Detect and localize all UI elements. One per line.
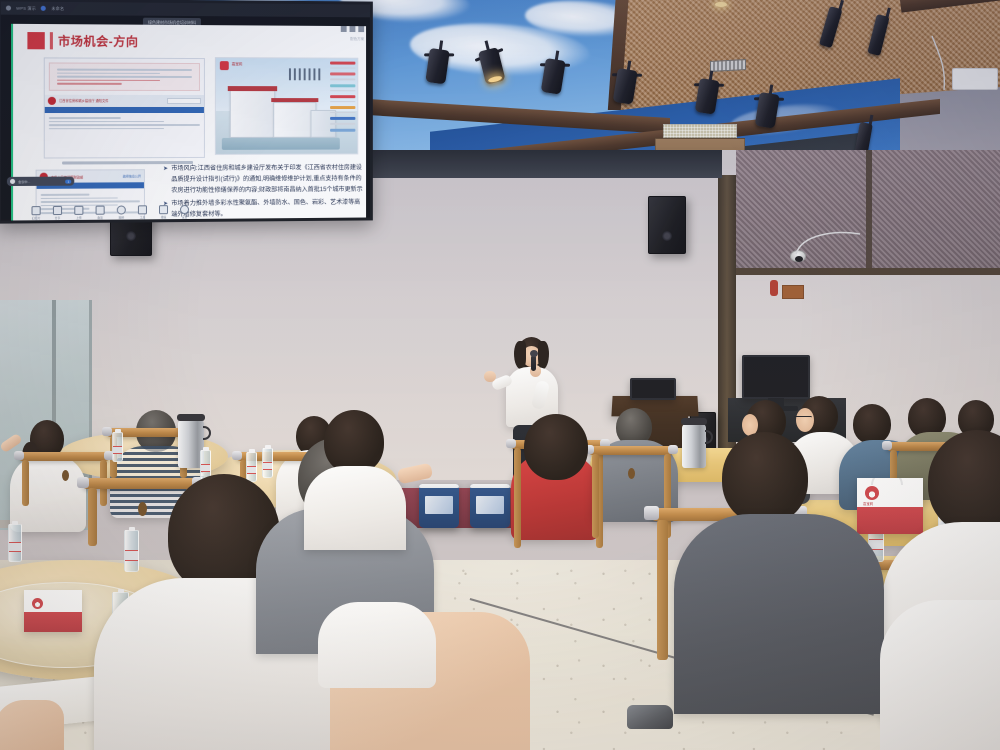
- camera-cable: [792, 228, 862, 256]
- render-bar-strip: [289, 68, 322, 80]
- slide-icon: [31, 206, 40, 215]
- gov-emblem-icon: [48, 97, 56, 105]
- title-accent-square: [27, 32, 44, 49]
- toolbar-label: 备注: [96, 216, 105, 220]
- swatch-caption: [330, 90, 355, 91]
- doc-text-line: [41, 197, 118, 199]
- wall-outlet-panel: [782, 285, 804, 299]
- wall-trim-right: [736, 268, 1000, 275]
- close-icon[interactable]: [358, 26, 364, 32]
- attendee-head: [324, 410, 384, 474]
- branded-tote-bag-2: [24, 590, 82, 632]
- swatch: [330, 129, 355, 132]
- gear-icon: [180, 205, 189, 214]
- swatch: [330, 84, 355, 87]
- attendee-foreground-sleeve: [318, 602, 436, 688]
- toolbar-label: 幻灯片: [31, 216, 40, 220]
- doc-card-caption-2: 政府信息公开: [123, 174, 141, 178]
- swatch-caption: [330, 101, 355, 102]
- attendee-head: [524, 414, 588, 480]
- brand-logo-icon: [865, 486, 879, 500]
- swatch: [330, 95, 355, 98]
- bucket-lid: [419, 484, 459, 488]
- conference-room-photo: WPS 演示 未命名 绿色建材市场机会培训材料 市场机会-方向: [0, 0, 1000, 750]
- doc-text-line-highlight: [57, 79, 160, 81]
- bullet-text-2: 市场着力推外墙多彩水性聚氨酯、外墙防水、国色、岩彩、艺术漆等高端外墙修复套材等。: [171, 197, 365, 220]
- glasses-icon: [794, 416, 812, 419]
- slide-bullets: ➤ 市场风向:江西省住房和城乡建设厅发布关于印发《江西省农村住房建设品质提升设计…: [163, 162, 365, 220]
- meeting-status-label: 会议中…: [18, 179, 30, 183]
- swatch: [330, 62, 355, 65]
- recessed-downlight: [715, 2, 727, 7]
- screen-right-panel-label: 配色方案: [350, 37, 364, 42]
- toolbar-label: 上传: [74, 216, 83, 220]
- swatch-caption: [330, 123, 355, 124]
- villa-roof: [228, 86, 277, 91]
- doc-text-line-highlight: [57, 83, 122, 85]
- render-card-villa: 嘉宝莉: [215, 57, 358, 155]
- bottle-label: [201, 464, 210, 471]
- doc-gov-header: 江西省住房和城乡建设厅 通知文件: [45, 95, 204, 107]
- villa-garden: [222, 138, 340, 150]
- microphone-head-icon: [530, 350, 538, 357]
- thermos-right: [682, 424, 706, 468]
- doc-card-jiangxi: 江西省住房和城乡建设厅 通知文件: [44, 57, 205, 158]
- attendee-foreground-right-edge: [880, 600, 1000, 750]
- bottle-label: [263, 462, 272, 469]
- water-bottle-3: [246, 452, 257, 482]
- swatch-caption: [330, 67, 355, 68]
- tote-handle: [871, 478, 903, 485]
- water-bottle-4: [262, 448, 273, 478]
- attendee-torso: [304, 466, 406, 550]
- paint-bucket-right: [470, 484, 510, 528]
- wall-speaker-right: [648, 196, 686, 254]
- toolbar-label: 排版: [159, 215, 168, 219]
- tools-icon: [138, 205, 147, 214]
- toolbar-label: 工具: [138, 215, 147, 219]
- screen-app-topbar: WPS 演示 未命名: [1, 1, 370, 17]
- toolbar-play-button[interactable]: 放映: [117, 205, 126, 219]
- bottle-cap: [265, 445, 271, 449]
- presenter-hair-side: [514, 341, 526, 369]
- swatch-caption: [330, 79, 355, 80]
- toolbar-note-button[interactable]: 备注: [96, 206, 105, 220]
- attendee-shoe: [627, 705, 673, 729]
- thermos-lid: [681, 418, 707, 425]
- villa-main-block: [230, 90, 275, 138]
- render-brand-name: 嘉宝莉: [232, 62, 243, 67]
- bottle-label: [113, 446, 122, 453]
- doc-text-line: [49, 124, 200, 126]
- note-icon: [96, 206, 105, 215]
- bullet-text-1: 市场风向:江西省住房和城乡建设厅发布关于印发《江西省农村住房建设品质提升设计指引…: [171, 162, 365, 197]
- share-icon: [53, 206, 62, 215]
- swatch: [330, 106, 355, 109]
- water-bottle-1: [112, 432, 123, 462]
- toolbar-grid-button[interactable]: 排版: [159, 205, 168, 219]
- attendee-head: [722, 432, 808, 524]
- doc-text-line: [57, 69, 192, 71]
- toolbar-tools-button[interactable]: 工具: [138, 205, 147, 219]
- maximize-icon[interactable]: [350, 26, 356, 32]
- toolbar-label: 放映: [117, 216, 126, 220]
- doc-text-line: [49, 121, 164, 123]
- upload-icon: [74, 206, 83, 215]
- fire-alarm: [770, 280, 778, 296]
- ceiling-vent-right: [710, 59, 746, 72]
- render-brand-logo: [220, 61, 229, 70]
- brand-logo-text: 嘉宝莉: [863, 501, 873, 506]
- branded-tote-bag: 嘉宝莉: [857, 478, 923, 534]
- render-swatch-column: [330, 62, 355, 135]
- toolbar-label: 设置: [180, 215, 189, 219]
- paint-bucket-left: [419, 484, 459, 528]
- water-bottle-6: [124, 530, 139, 572]
- bucket-label: [425, 496, 453, 514]
- thermos-lid: [177, 414, 205, 421]
- toolbar-share-button[interactable]: 分享: [53, 206, 62, 220]
- bullet-marker: ➤: [163, 163, 168, 197]
- play-icon: [117, 205, 126, 214]
- slide-canvas[interactable]: 市场机会-方向 江西省住房和城乡建设厅 通知文件: [11, 24, 366, 224]
- bottle-cap: [12, 521, 18, 525]
- swatch-caption: [330, 112, 355, 113]
- slide-title-row: 市场机会-方向: [27, 32, 138, 50]
- bottle-cap: [115, 429, 121, 433]
- swatch: [330, 73, 355, 76]
- doc-search-field[interactable]: [167, 98, 201, 104]
- bucket-lid: [470, 484, 510, 488]
- doc-card-title: 江西省住房和城乡建设厅 通知文件: [59, 98, 108, 103]
- grid-icon: [159, 205, 168, 214]
- water-bottle-5: [8, 524, 22, 562]
- bottle-cap: [249, 449, 255, 453]
- meeting-chat-widget[interactable]: 会议中… 1: [7, 177, 74, 186]
- projection-screen[interactable]: WPS 演示 未命名 绿色建材市场机会培训材料 市场机会-方向: [0, 0, 373, 224]
- bottle-label: [9, 542, 21, 551]
- toolbar-label: 分享: [53, 216, 62, 220]
- add-tab-icon[interactable]: [41, 6, 46, 11]
- attendee-hand-foreground: [0, 700, 64, 750]
- minimize-icon[interactable]: [341, 26, 347, 32]
- doc-text-line: [57, 76, 192, 78]
- bottle-label: [247, 466, 256, 473]
- lectern-screen: [630, 378, 676, 400]
- title-accent-bar: [50, 32, 53, 49]
- app-name-label: WPS 演示: [16, 5, 36, 11]
- attendee-face: [796, 408, 814, 432]
- doc-navbar: [45, 107, 204, 113]
- wall-panel-divider: [866, 150, 872, 270]
- slide-bottom-toolbar[interactable]: 幻灯片 分享 上传 备注 放映: [31, 205, 189, 220]
- bottle-cap: [129, 527, 135, 531]
- unread-badge: 1: [65, 179, 71, 183]
- doc-text-line: [41, 201, 140, 203]
- screen-window-controls[interactable]: [341, 26, 364, 32]
- doc-highlight-box: [49, 62, 200, 91]
- villa-wing-roof: [271, 98, 318, 102]
- bucket-label: [476, 496, 504, 514]
- attendee-head: [853, 404, 891, 444]
- doc-text-line: [49, 117, 121, 119]
- attendee-torso: [674, 514, 884, 714]
- doc-text-line: [57, 72, 160, 74]
- swatch: [330, 117, 355, 120]
- brand-logo-icon: [32, 598, 43, 609]
- ceiling-box-device: [952, 68, 998, 90]
- doc-text-line: [49, 128, 164, 130]
- bottle-cap: [118, 589, 124, 593]
- bottle-cap: [203, 447, 209, 451]
- side-monitor: [742, 355, 810, 399]
- toolbar-slide-button[interactable]: 幻灯片: [31, 206, 40, 220]
- slide-title: 市场机会-方向: [58, 32, 138, 50]
- microphone: [531, 355, 536, 371]
- file-name-label: 未命名: [51, 5, 64, 11]
- toolbar-upload-button[interactable]: 上传: [74, 206, 83, 220]
- participant-avatar-icon: [10, 179, 15, 184]
- doc-text-line: [41, 194, 89, 196]
- app-logo-icon: [6, 6, 11, 11]
- presenter-left-hand: [484, 371, 496, 382]
- toolbar-gear-button[interactable]: 设置: [180, 205, 189, 219]
- bottle-label: [125, 550, 138, 560]
